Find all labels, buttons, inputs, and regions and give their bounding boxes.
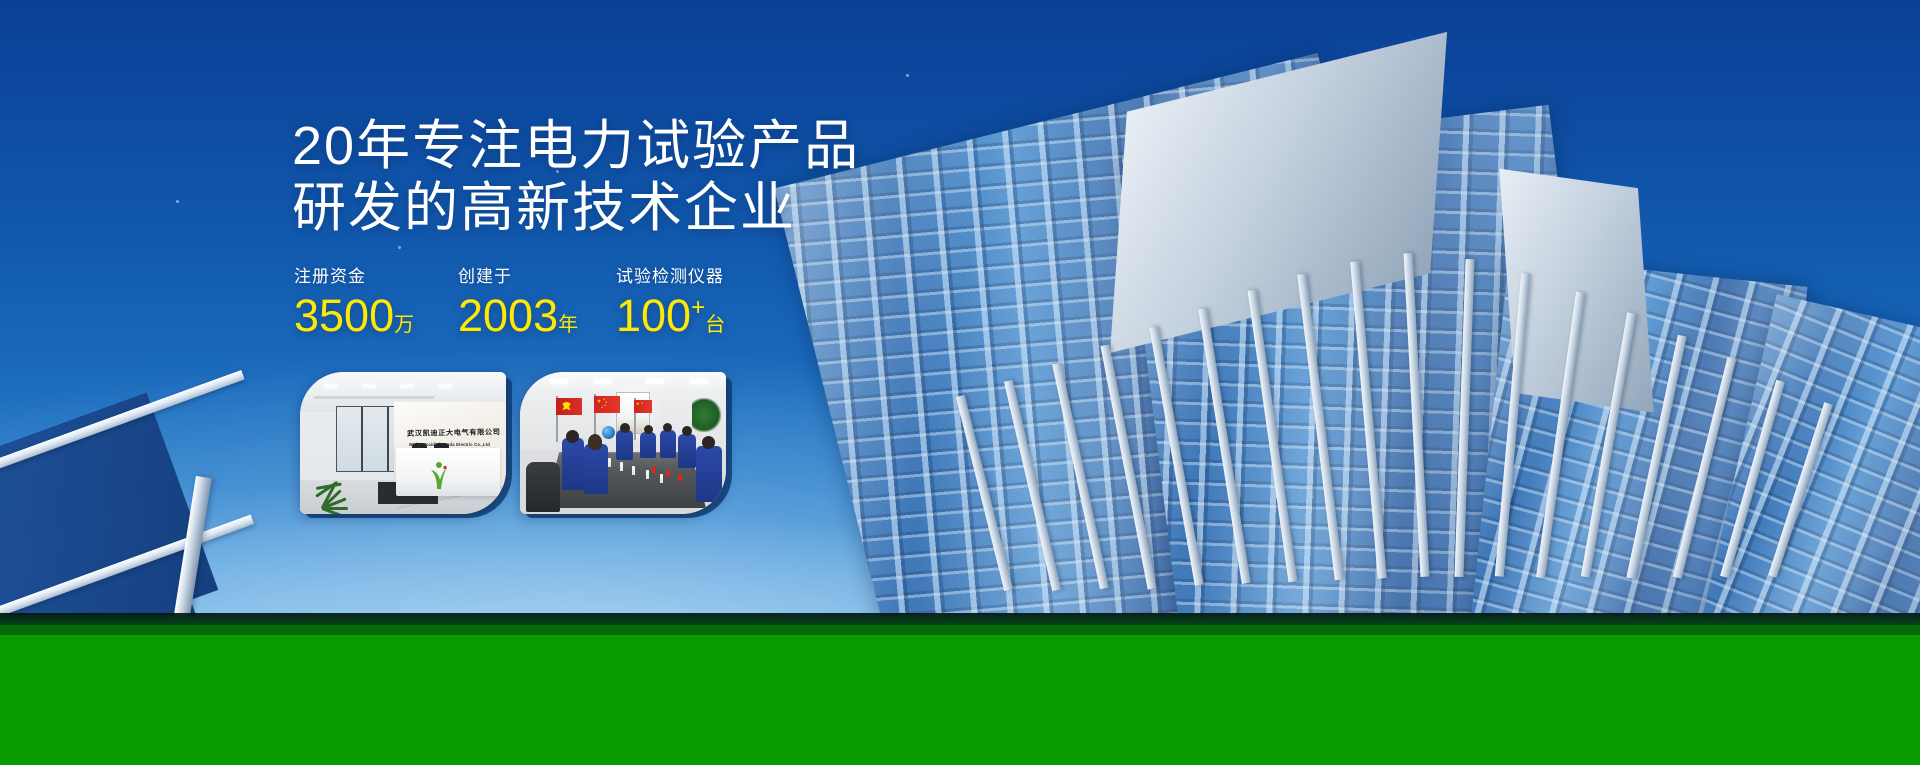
tower-fin <box>1248 290 1298 582</box>
photo-frame: 武汉凯迪正大电气有限公司 Wuhan Kaidizhengda Electric… <box>300 372 506 514</box>
globe-decoration <box>602 426 615 439</box>
stat-founded-year: 创建于 2003年 <box>458 268 616 338</box>
tower-fin <box>1149 326 1203 586</box>
photo-thumbnails: 武汉凯迪正大电气有限公司 Wuhan Kaidizhengda Electric… <box>300 372 726 514</box>
stat-value: 100+台 <box>616 293 776 338</box>
national-flag <box>634 400 652 413</box>
hero-banner: 20年专注电力试验产品 研发的高新技术企业 注册资金 3500万 创建于 200… <box>0 0 1920 765</box>
attendee-head <box>644 425 653 434</box>
tower-fin <box>1454 259 1474 577</box>
tower-fin <box>1495 273 1530 577</box>
stats-row: 注册资金 3500万 创建于 2003年 试验检测仪器 100+台 <box>294 268 776 338</box>
attendee-head <box>588 434 602 450</box>
stat-superscript: + <box>691 294 705 321</box>
tower-fin <box>1626 335 1686 579</box>
tower-fin <box>1100 344 1156 589</box>
photo-office-reception[interactable]: 武汉凯迪正大电气有限公司 Wuhan Kaidizhengda Electric… <box>300 372 506 514</box>
attendee <box>562 438 584 490</box>
tower-fin <box>1297 274 1343 581</box>
stat-test-instruments: 试验检测仪器 100+台 <box>616 268 776 338</box>
stat-number: 100 <box>616 290 691 341</box>
attendee-head <box>620 423 630 433</box>
attendee <box>678 434 696 468</box>
green-footer-band <box>0 635 1920 765</box>
tower-fin <box>1536 292 1585 578</box>
page-title: 20年专注电力试验产品 研发的高新技术企业 <box>292 116 860 239</box>
stat-number: 3500 <box>294 290 394 341</box>
wall-sign-cn: 武汉凯迪正大电气有限公司 <box>406 427 500 439</box>
attendee <box>660 430 676 458</box>
national-flag <box>594 396 620 413</box>
tower-fin <box>1673 357 1736 578</box>
stat-unit: 台 <box>705 314 725 336</box>
attendee-head <box>663 423 672 432</box>
tower-fin <box>1350 261 1387 579</box>
tower-fin <box>1720 380 1785 579</box>
tower-fin <box>1581 312 1636 577</box>
attendee <box>640 432 656 458</box>
meeting-room-image <box>520 372 726 514</box>
stat-value: 3500万 <box>294 293 458 338</box>
tower-fin <box>1198 308 1250 584</box>
stat-registered-capital: 注册资金 3500万 <box>294 268 458 338</box>
glass-towers <box>860 93 1920 653</box>
attendee-head <box>566 430 579 443</box>
banner-content: 20年专注电力试验产品 研发的高新技术企业 注册资金 3500万 创建于 200… <box>0 0 1000 653</box>
tower-fin <box>1404 253 1430 577</box>
attendee <box>616 430 633 460</box>
company-logo-icon <box>426 460 448 490</box>
attendee-head <box>702 436 715 449</box>
photo-frame <box>520 372 726 514</box>
office-reception-image: 武汉凯迪正大电气有限公司 Wuhan Kaidizhengda Electric… <box>300 372 506 514</box>
attendee-head <box>682 426 692 436</box>
indoor-plant <box>692 398 722 432</box>
stat-label: 注册资金 <box>294 268 458 285</box>
attendee <box>584 444 608 494</box>
office-chair <box>526 462 560 512</box>
stat-label: 创建于 <box>458 268 616 285</box>
attendee <box>696 446 722 502</box>
tower-fins <box>860 93 1920 653</box>
party-flag <box>556 398 582 415</box>
stat-unit: 万 <box>394 314 414 336</box>
stat-value: 2003年 <box>458 293 616 338</box>
tower-fin <box>1004 380 1061 592</box>
potted-plant <box>302 464 346 512</box>
stat-number: 2003 <box>458 290 558 341</box>
headline-line-2: 研发的高新技术企业 <box>292 178 860 240</box>
tower-fin <box>1052 363 1109 590</box>
photo-meeting-room[interactable] <box>520 372 726 514</box>
stat-label: 试验检测仪器 <box>616 268 776 285</box>
stat-unit: 年 <box>558 314 578 336</box>
tower-fin <box>1768 402 1833 578</box>
headline-line-1: 20年专注电力试验产品 <box>292 116 860 178</box>
